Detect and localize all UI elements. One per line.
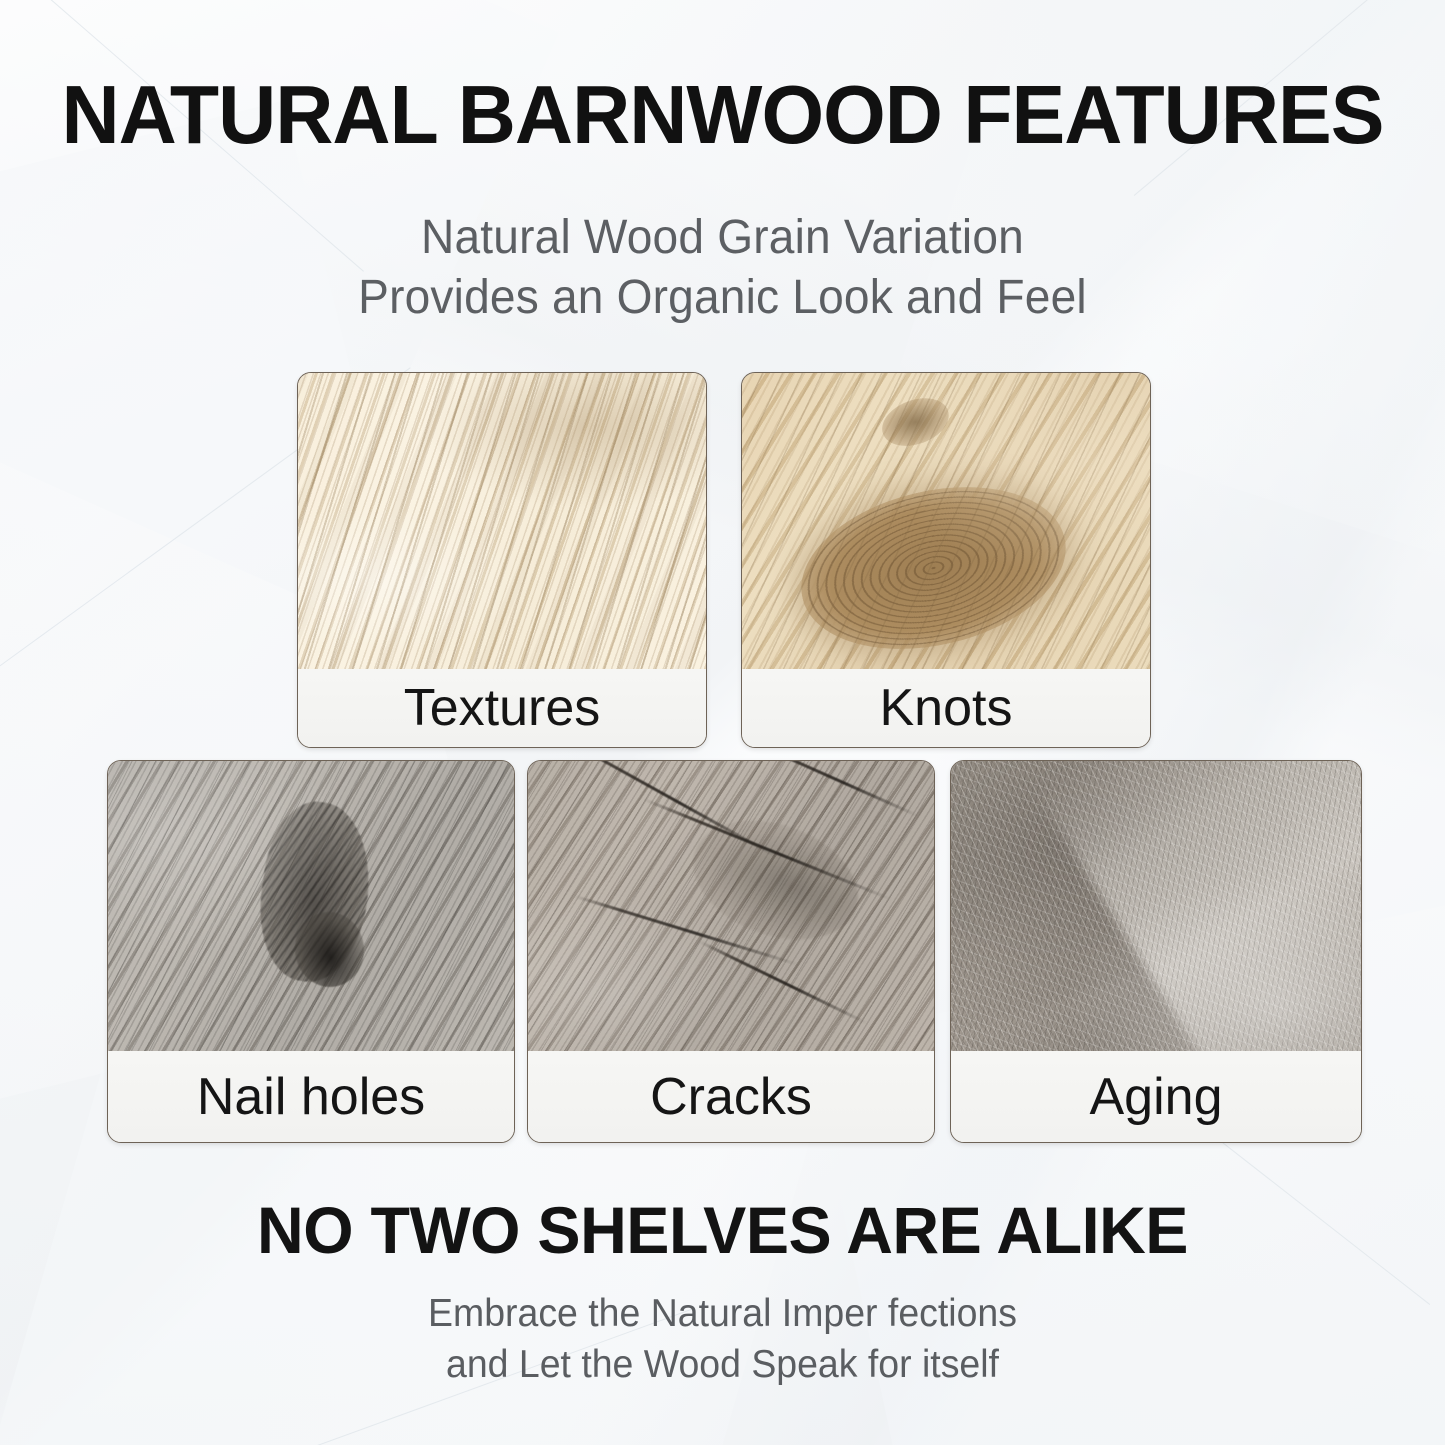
wood-texture-image [951, 761, 1361, 1051]
feature-label-knots: Knots [742, 669, 1150, 747]
wood-texture-image [108, 761, 514, 1051]
feature-photo-knots [742, 373, 1150, 669]
knot-center-crack [836, 472, 1064, 548]
feature-label-aging: Aging [951, 1051, 1361, 1142]
crack-line [573, 895, 799, 967]
wood-texture-image [742, 373, 1150, 669]
footer-subtitle-line-1: Embrace the Natural Imper fections [29, 1288, 1416, 1339]
feature-label-textures: Textures [298, 669, 706, 747]
nail-hole-mark [250, 795, 380, 988]
footer-subtitle-line-2: and Let the Wood Speak for itself [29, 1339, 1416, 1390]
small-knot-mark [875, 389, 955, 454]
feature-photo-nail-holes [108, 761, 514, 1051]
crack-line [559, 761, 781, 860]
infographic-canvas: NATURAL BARNWOOD FEATURES Natural Wood G… [0, 0, 1445, 1445]
crack-line [643, 798, 893, 901]
page-subtitle: Natural Wood Grain Variation Provides an… [0, 208, 1445, 328]
footer-subtitle: Embrace the Natural Imper fections and L… [0, 1288, 1445, 1390]
aging-dark-region [951, 761, 1322, 1035]
crack-line [699, 941, 868, 1026]
feature-label-cracks: Cracks [528, 1051, 934, 1142]
knot-ring-ellipse [785, 463, 1082, 669]
feature-card-aging[interactable]: Aging [950, 760, 1362, 1143]
crack-blotch [677, 799, 875, 961]
nail-hole-mark [291, 908, 368, 990]
feature-photo-textures [298, 373, 706, 669]
feature-photo-aging [951, 761, 1361, 1051]
page-title: NATURAL BARNWOOD FEATURES [22, 72, 1424, 158]
feature-card-nail-holes[interactable]: Nail holes [107, 760, 515, 1143]
feature-photo-cracks [528, 761, 934, 1051]
wood-texture-image [528, 761, 934, 1051]
feature-card-textures[interactable]: Textures [297, 372, 707, 748]
feature-card-cracks[interactable]: Cracks [527, 760, 935, 1143]
page-subtitle-line-1: Natural Wood Grain Variation [29, 208, 1416, 268]
aging-light-band [1034, 761, 1361, 1051]
crack-line [754, 761, 918, 818]
footer-title: NO TWO SHELVES ARE ALIKE [14, 1194, 1430, 1266]
aging-fiber-overlay [951, 761, 1361, 1051]
feature-label-nail-holes: Nail holes [108, 1051, 514, 1142]
page-subtitle-line-2: Provides an Organic Look and Feel [29, 268, 1416, 328]
wood-texture-image [298, 373, 706, 669]
feature-card-knots[interactable]: Knots [741, 372, 1151, 748]
